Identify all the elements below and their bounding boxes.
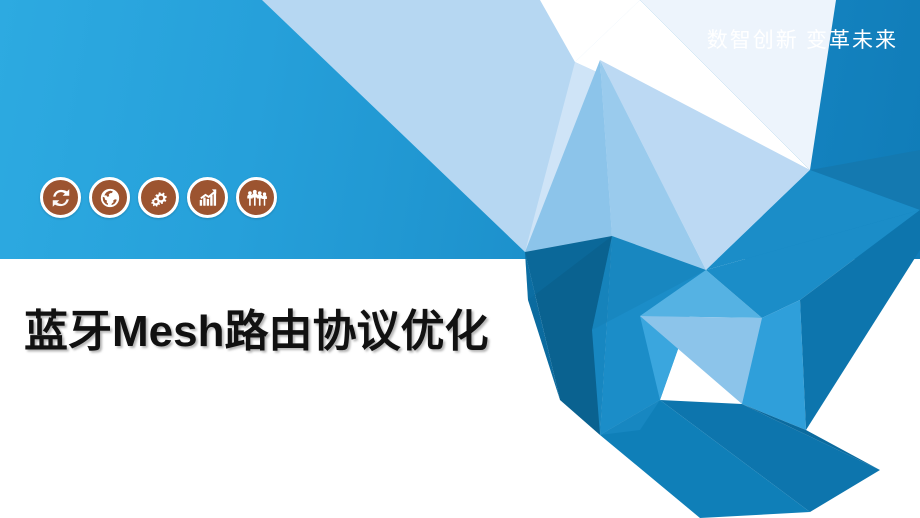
bar-chart-growth-icon[interactable] xyxy=(187,177,228,218)
presentation-title-slide: 数智创新 变革未来 xyxy=(0,0,920,518)
team-group-icon[interactable] xyxy=(236,177,277,218)
low-poly-geometric-decoration xyxy=(0,0,920,518)
tagline: 数智创新 变革未来 xyxy=(707,24,898,54)
gears-icon[interactable] xyxy=(138,177,179,218)
refresh-cycle-icon[interactable] xyxy=(40,177,81,218)
page-title: 蓝牙Mesh路由协议优化 xyxy=(24,295,488,359)
globe-icon[interactable] xyxy=(89,177,130,218)
icon-row xyxy=(40,177,277,218)
